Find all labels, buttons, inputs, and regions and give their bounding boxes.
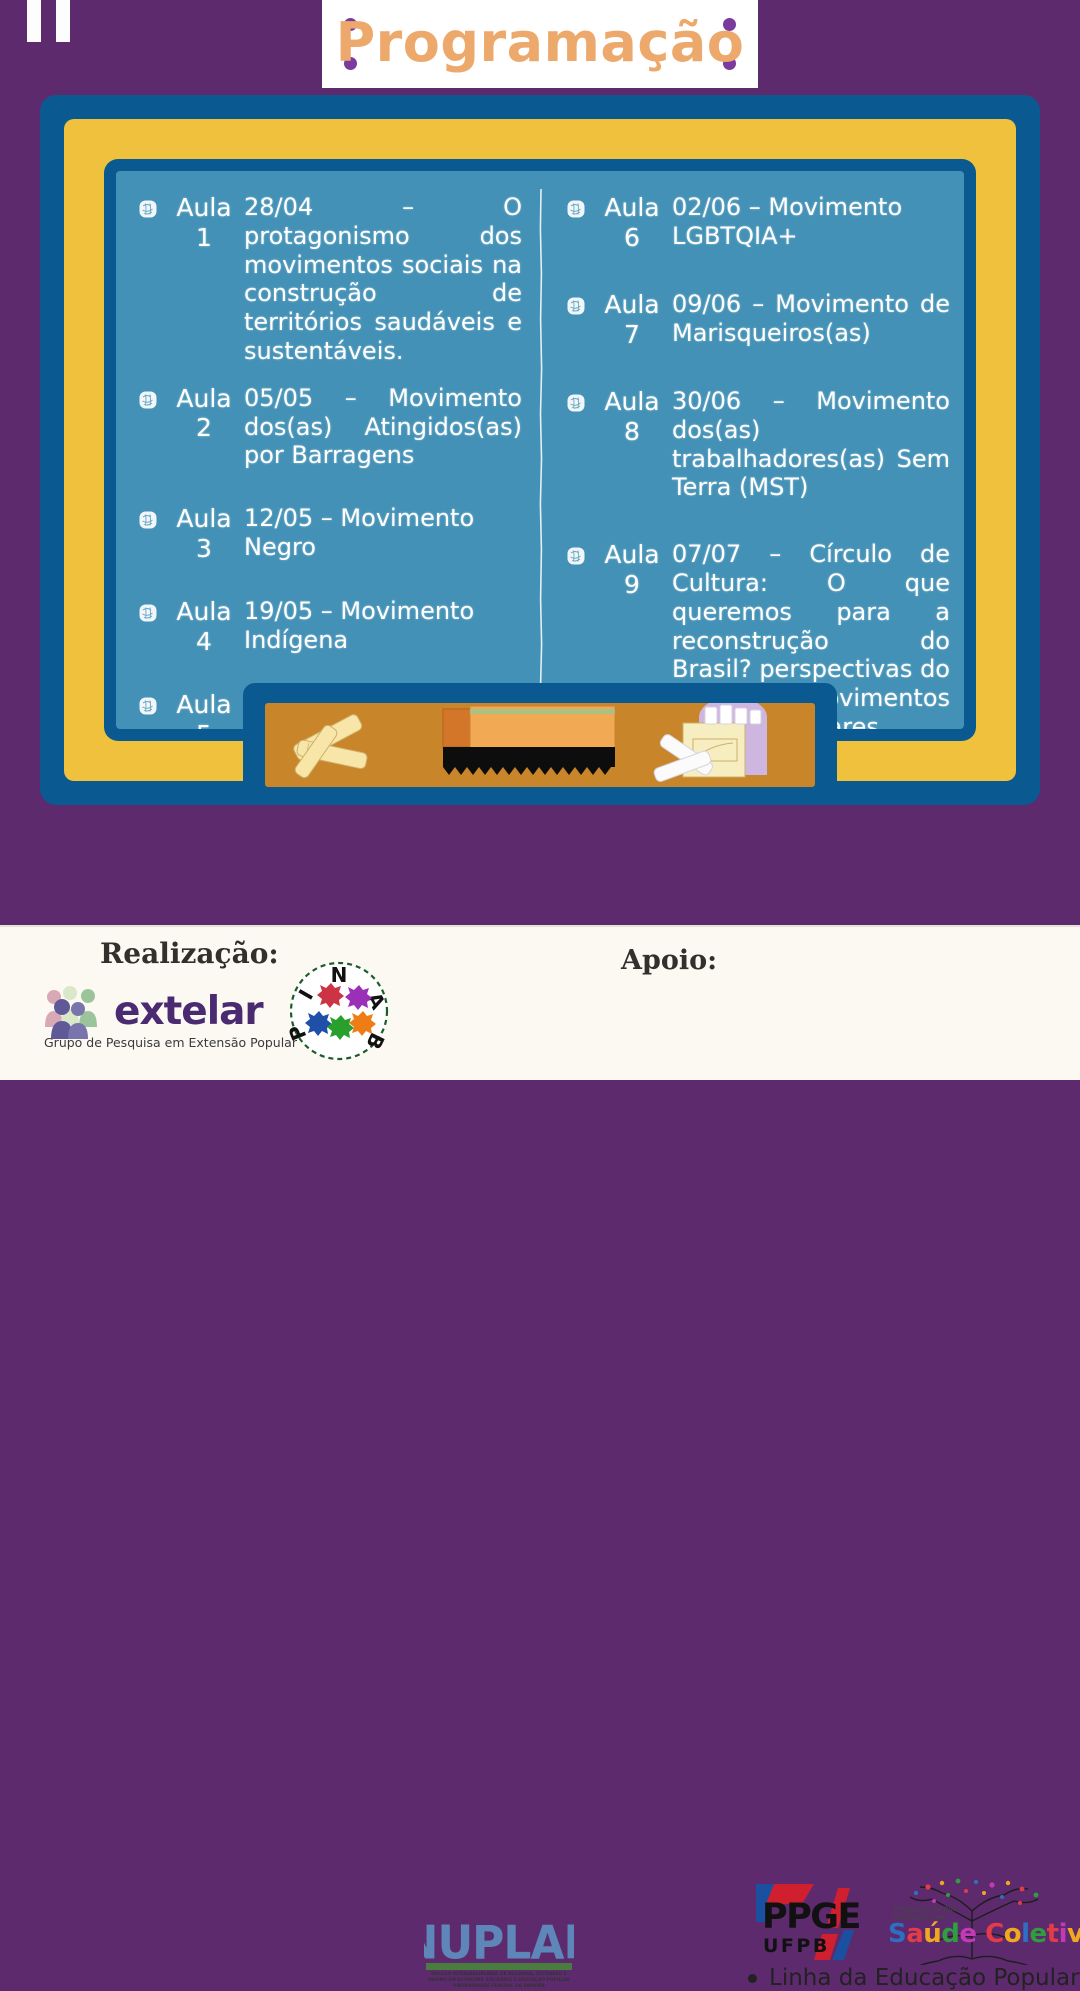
lesson-label: Aula 8 [596,387,668,446]
chalk-bullet-icon [138,199,158,219]
chalk-tray-surface [265,703,815,787]
poster-canvas: Programação [0,0,1080,1080]
nuplar-wordmark-icon: NUPLAR [424,1910,574,1966]
linha-educacao-popular: Linha da Educação Popular [748,1965,1080,1991]
extelar-wordmark: extelar [114,989,263,1034]
lesson-label: Aula 6 [596,193,668,252]
realizacao-label: Realização: [100,937,279,970]
chalk-bullet-icon [138,603,158,623]
saude-coletiva-logo: Programa de Pós-Graduação em Saúde Colet… [872,1877,1072,1965]
extelar-people-icon [42,985,112,1039]
lesson-number: 5 [168,720,240,729]
lesson-label: Aula 2 [168,384,240,443]
nuplar-green-bar [426,1963,572,1970]
lesson-label: Aula 3 [168,504,240,563]
lesson-description: 09/06 – Movimento de Marisqueiros(as) [668,290,950,348]
list-item: Aula 4 19/05 – Movimento Indígena [138,597,522,656]
lesson-number: 2 [168,413,240,443]
lesson-description: 05/05 – Movimento dos(as) Atingidos(as) … [240,384,522,470]
lesson-description: 30/06 – Movimento dos(as) trabalhadores(… [668,387,950,502]
lesson-word: Aula [604,540,659,569]
chalk-box-icon [653,703,767,783]
chalk-sticks-icon [292,713,368,780]
bullet-icon [748,1974,757,1983]
lesson-word: Aula [604,193,659,222]
lesson-number: 9 [596,570,668,600]
lesson-number: 3 [168,534,240,564]
ppge-logo: PPGE UFPB [752,1882,857,1964]
list-item: Aula 1 28/04 – O protagonismo dos movime… [138,193,522,366]
lesson-word: Aula [176,690,231,719]
lesson-word: Aula [176,384,231,413]
lesson-number: 4 [168,627,240,657]
lesson-label: Aula 7 [596,290,668,349]
extelar-tagline: Grupo de Pesquisa em Extensão Popular [44,1035,294,1050]
lesson-number: 1 [168,223,240,253]
lesson-word: Aula [176,597,231,626]
lesson-label: Aula 9 [596,540,668,599]
chalk-tray [243,683,837,803]
pinab-logo: N I P A B [286,958,392,1064]
chalk-bullet-icon [138,696,158,716]
footer: Realização: Apoio: extelar Grupo de Pesq… [0,925,1080,1080]
lesson-description: 02/06 – Movimento LGBTQIA+ [668,193,950,251]
page-title: Programação [336,16,745,70]
ppge-wordmark: PPGE [762,1897,860,1937]
blackboard-eraser-icon [443,706,615,775]
chalk-bullet-icon [138,510,158,530]
lesson-label: Aula 1 [168,193,240,252]
list-item: Aula 2 05/05 – Movimento dos(as) Atingid… [138,384,522,470]
lesson-number: 6 [596,223,668,253]
nuplar-subtitle-2: UNIVERSIDADE FEDERAL DA PARAÍBA [428,1984,571,1989]
ppge-institution: UFPB [763,1935,830,1957]
schedule-column-right: Aula 6 02/06 – Movimento LGBTQIA+ [540,171,964,729]
schedule-column-left: Aula 1 28/04 – O protagonismo dos movime… [116,171,540,729]
lesson-word: Aula [176,193,231,222]
list-item: Aula 8 30/06 – Movimento dos(as) trabalh… [566,387,950,502]
nuplar-logo: NUPLAR NÚCLEO INTERDISCIPLINAR DE PESQUI… [424,1910,574,1990]
chalk-bullet-icon [566,296,586,316]
saude-coletiva-wordmark: Saúde Coletiva [888,1919,1080,1949]
corner-bar-right [56,0,70,42]
lesson-word: Aula [176,504,231,533]
corner-bar-left [27,0,41,42]
lesson-number: 8 [596,417,668,447]
nuplar-subtitle-1: NÚCLEO INTERDISCIPLINAR DE PESQUISA, EXT… [428,1972,571,1984]
lesson-label: Aula 5 [168,690,240,729]
lesson-number: 7 [596,320,668,350]
chalk-bullet-icon [138,390,158,410]
title-banner: Programação [322,0,758,88]
chalk-bullet-icon [566,393,586,413]
corner-bars-decoration [22,0,92,60]
apoio-label: Apoio: [621,945,717,976]
svg-text:N: N [331,963,348,987]
tray-contents-illustration [265,703,815,787]
list-item: Aula 6 02/06 – Movimento LGBTQIA+ [566,193,950,252]
linha-label: Linha da Educação Popular [769,1965,1080,1991]
list-item: Aula 7 09/06 – Movimento de Marisqueiros… [566,290,950,349]
lesson-word: Aula [604,387,659,416]
chalk-bullet-icon [566,546,586,566]
list-item: Aula 3 12/05 – Movimento Negro [138,504,522,563]
lesson-description: 28/04 – O protagonismo dos movimentos so… [240,193,522,366]
lesson-description: 12/05 – Movimento Negro [240,504,522,562]
footer-divider [0,925,1080,927]
schedule-columns: Aula 1 28/04 – O protagonismo dos movime… [116,171,964,729]
extelar-logo: extelar Grupo de Pesquisa em Extensão Po… [42,983,292,1055]
chalk-bullet-icon [566,199,586,219]
lesson-word: Aula [604,290,659,319]
svg-text:NUPLAR: NUPLAR [424,1915,574,1966]
lesson-label: Aula 4 [168,597,240,656]
lesson-description: 19/05 – Movimento Indígena [240,597,522,655]
chalkboard-inner-frame: Aula 1 28/04 – O protagonismo dos movime… [104,159,976,741]
chalkboard-gold-frame: Aula 1 28/04 – O protagonismo dos movime… [64,119,1016,781]
chalkboard-surface: Aula 1 28/04 – O protagonismo dos movime… [116,171,964,729]
